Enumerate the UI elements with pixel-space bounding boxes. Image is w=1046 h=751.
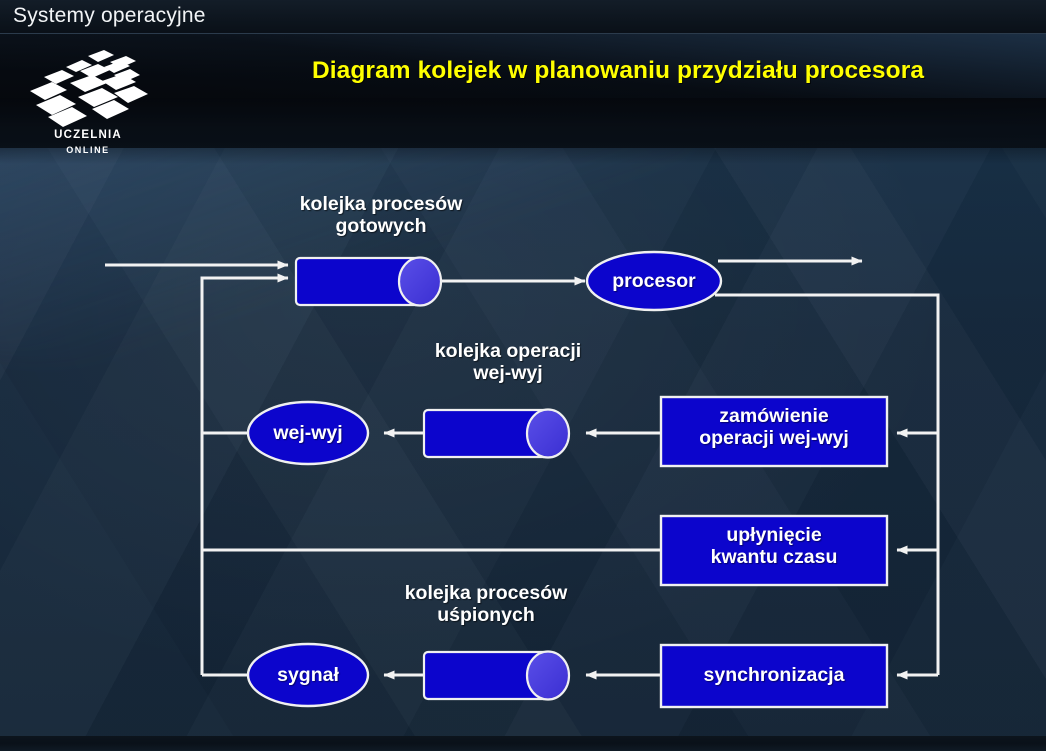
queue-scheduling-diagram: kolejka procesów gotowych kolejka operac… — [0, 0, 1046, 751]
presentation-slide: Systemy operacyjne UCZELNIA — [0, 0, 1046, 751]
quantum-expired-node-shape — [661, 516, 887, 585]
edge-feedback-to-ready-queue — [202, 278, 288, 288]
io-queue-shape — [424, 410, 569, 458]
cpu-node-shape — [587, 252, 721, 310]
synchronization-node-shape — [661, 645, 887, 707]
signal-node-shape — [248, 644, 368, 706]
io-request-node-shape — [661, 397, 887, 466]
bottom-strip — [0, 736, 1046, 751]
ready-queue-caption: kolejka procesów gotowych — [261, 194, 501, 238]
ready-queue-shape — [296, 258, 441, 306]
sleep-queue-caption: kolejka procesów uśpionych — [366, 583, 606, 627]
sleep-queue-shape — [424, 652, 569, 700]
io-queue-caption: kolejka operacji wej-wyj — [388, 341, 628, 385]
io-node-shape — [248, 402, 368, 464]
edge-cpu-to-right-bus — [715, 295, 938, 675]
